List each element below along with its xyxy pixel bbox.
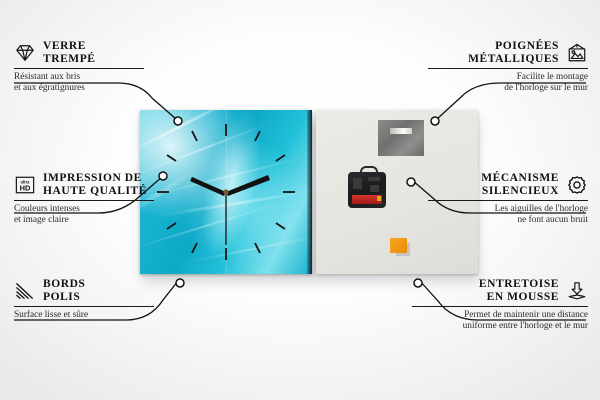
callout-header: ultra HD IMPRESSION DE HAUTE QUALITÉ [14, 172, 154, 197]
press-down-icon [566, 281, 588, 301]
callout-entretoise-en-mousse: ENTRETOISE EN MOUSSE Permet de maintenir… [412, 278, 588, 332]
hour-mark-5 [255, 243, 260, 253]
callout-header: ENTRETOISE EN MOUSSE [412, 278, 588, 303]
mechanism-detail [368, 177, 380, 181]
callout-header: BORDS POLIS [14, 278, 154, 303]
hour-mark-11 [192, 131, 197, 141]
hanger-slot [390, 128, 412, 134]
callout-description: Surface lisse et sûre [14, 310, 154, 321]
diamond-icon [14, 43, 36, 63]
callout-header: MÉCANISME SILENCIEUX [428, 172, 588, 197]
foam-spacer [390, 238, 407, 253]
callout-title: MÉCANISME SILENCIEUX [481, 172, 559, 197]
polished-edge-icon [14, 281, 36, 301]
mechanism-detail [353, 178, 362, 189]
quartz-movement-box [348, 172, 386, 208]
callout-divider [428, 68, 588, 69]
hanging-loop [360, 166, 378, 177]
glass-edge [307, 110, 312, 274]
hour-mark-7 [192, 243, 197, 253]
callout-description: Les aiguilles de l'horloge ne font aucun… [428, 204, 588, 226]
callout-divider [14, 306, 154, 307]
metal-hanger-plate [378, 120, 424, 156]
infographic-canvas: VERRE TREMPÉ Résistant aux bris et aux é… [0, 0, 600, 400]
callout-divider [14, 68, 144, 69]
battery-terminal [377, 196, 381, 201]
hour-mark-1 [255, 131, 260, 141]
callout-header: VERRE TREMPÉ [14, 40, 144, 65]
battery [352, 195, 382, 204]
hour-mark-4 [276, 223, 285, 229]
clock-center-cap [223, 189, 228, 194]
callout-divider [428, 200, 588, 201]
callout-header: POIGNÉES MÉTALLIQUES [428, 40, 588, 65]
hour-hand [190, 177, 226, 196]
callout-title: IMPRESSION DE HAUTE QUALITÉ [43, 172, 147, 197]
clock-dial [140, 110, 312, 274]
hour-mark-2 [276, 155, 285, 161]
hour-mark-10 [167, 155, 176, 161]
clock-front-face [140, 110, 312, 274]
framed-picture-icon [566, 43, 588, 63]
callout-mecanisme-silencieux: MÉCANISME SILENCIEUX Les aiguilles de l'… [428, 172, 588, 226]
callout-description: Facilite le montage de l'horloge sur le … [428, 72, 588, 94]
callout-verre-trempe: VERRE TREMPÉ Résistant aux bris et aux é… [14, 40, 144, 94]
callout-title: BORDS POLIS [43, 278, 85, 303]
callout-description: Couleurs intenses et image claire [14, 204, 154, 226]
gear-icon [566, 175, 588, 195]
callout-description: Permet de maintenir une distance uniform… [412, 310, 588, 332]
minute-hand [226, 175, 270, 196]
callout-impression-haute-qualite: ultra HD IMPRESSION DE HAUTE QUALITÉ Cou… [14, 172, 154, 226]
callout-divider [412, 306, 588, 307]
callout-divider [14, 200, 154, 201]
callout-title: VERRE TREMPÉ [43, 40, 96, 65]
ultra-hd-icon: ultra HD [14, 175, 36, 195]
callout-bords-polis: BORDS POLIS Surface lisse et sûre [14, 278, 154, 321]
callout-poignees-metalliques: POIGNÉES MÉTALLIQUES Facilite le montage… [428, 40, 588, 94]
hour-mark-8 [167, 223, 176, 229]
mechanism-detail [370, 185, 379, 192]
callout-title: ENTRETOISE EN MOUSSE [479, 278, 559, 303]
callout-title: POIGNÉES MÉTALLIQUES [468, 40, 559, 65]
ultra-hd-icon-bottom-text: HD [20, 183, 31, 192]
callout-description: Résistant aux bris et aux égratignures [14, 72, 144, 94]
